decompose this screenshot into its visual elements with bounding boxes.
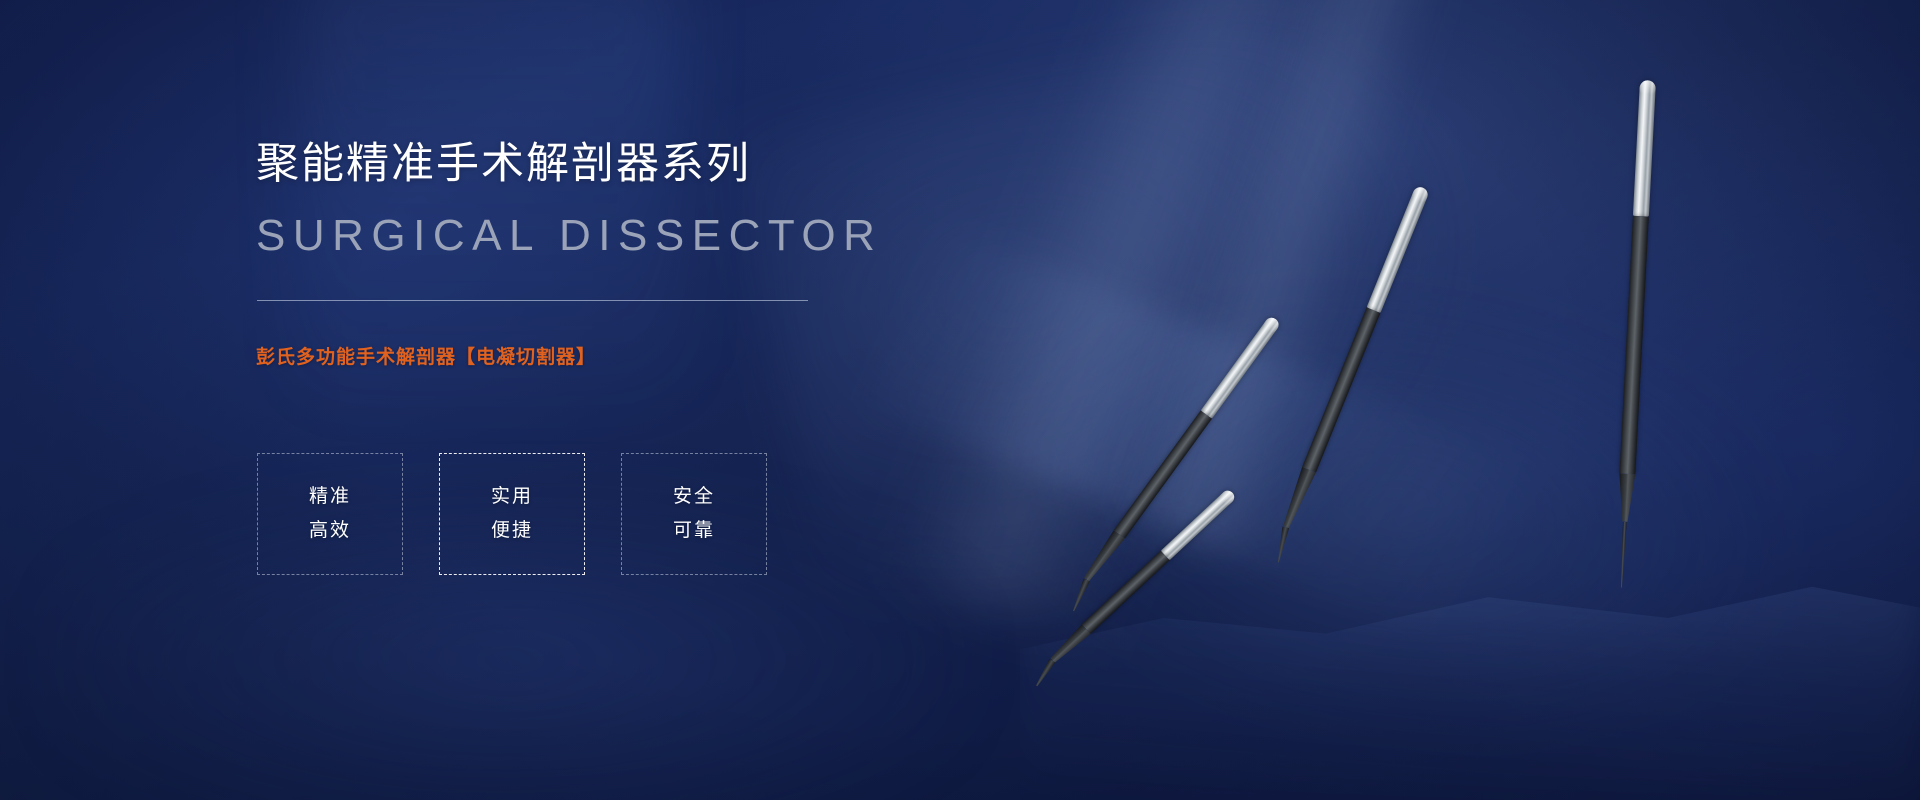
feature-badge-safety-line1: 安全 (673, 484, 715, 510)
title-divider (257, 300, 808, 301)
page-subtitle-english: SURGICAL DISSECTOR (256, 212, 882, 260)
feature-badge-safety: 安全 可靠 (621, 453, 767, 575)
feature-badge-safety-line2: 可靠 (673, 518, 715, 544)
feature-badge-practical-line2: 便捷 (491, 518, 533, 544)
feature-badge-precision-line1: 精准 (309, 484, 351, 510)
product-banner: 聚能精准手术解剖器系列 SURGICAL DISSECTOR 彭氏多功能手术解剖… (0, 0, 1920, 800)
feature-badge-precision-line2: 高效 (309, 518, 351, 544)
feature-badge-practical: 实用 便捷 (439, 453, 585, 575)
feature-badge-list: 精准 高效 实用 便捷 安全 可靠 (257, 453, 767, 575)
feature-badge-precision: 精准 高效 (257, 453, 403, 575)
feature-badge-practical-line1: 实用 (491, 484, 533, 510)
product-name-label: 彭氏多功能手术解剖器【电凝切割器】 (256, 342, 596, 369)
banner-content: 聚能精准手术解剖器系列 SURGICAL DISSECTOR 彭氏多功能手术解剖… (0, 0, 1920, 800)
page-title: 聚能精准手术解剖器系列 (256, 138, 751, 192)
